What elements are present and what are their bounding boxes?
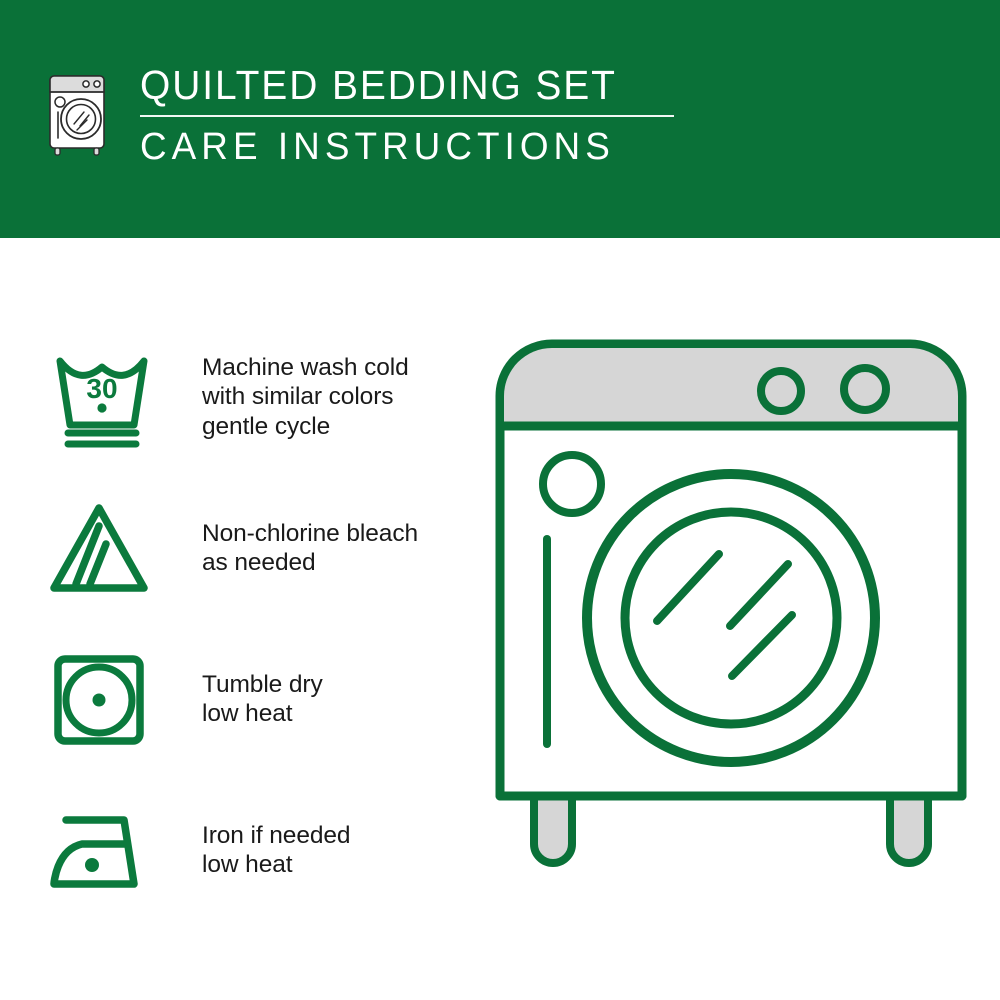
header-content: QUILTED BEDDING SET CARE INSTRUCTIONS [44,62,674,169]
care-instruction-row: Tumble dry low heat [48,640,468,758]
washing-machine-icon [44,62,118,162]
washer-leg-left [534,796,572,863]
washer-leg-right [890,796,928,863]
care-instruction-label: Non-chlorine bleach as needed [202,519,418,578]
header-divider [140,115,674,117]
care-instruction-label: Tumble dry low heat [202,670,323,729]
header-band: QUILTED BEDDING SET CARE INSTRUCTIONS [0,0,1000,238]
care-instruction-label: Iron if needed low heat [202,821,350,880]
care-instruction-row: Iron if needed low heat [48,791,468,909]
tumble-dry-low-heat-icon [48,647,160,751]
control-knob-right[interactable] [844,368,886,410]
care-instruction-row: 30 Machine wash cold with similar colors… [48,338,468,456]
wash-temperature-value: 30 [86,373,117,404]
page-subtitle: CARE INSTRUCTIONS [140,125,658,169]
care-instruction-list: 30 Machine wash cold with similar colors… [48,338,468,942]
care-instruction-row: Non-chlorine bleach as needed [48,489,468,607]
care-instructions-infographic: QUILTED BEDDING SET CARE INSTRUCTIONS 30 [0,0,1000,1000]
control-knob-left[interactable] [761,371,801,411]
iron-low-heat-icon [48,798,160,902]
non-chlorine-bleach-triangle-icon [48,496,160,600]
header-text-block: QUILTED BEDDING SET CARE INSTRUCTIONS [140,62,674,169]
front-load-washing-machine-illustration [492,336,970,926]
wash-tub-30-gentle-icon: 30 [48,345,160,449]
washer-front-dial[interactable] [543,455,601,513]
care-instruction-label: Machine wash cold with similar colors ge… [202,353,409,442]
page-title: QUILTED BEDDING SET [140,62,647,108]
